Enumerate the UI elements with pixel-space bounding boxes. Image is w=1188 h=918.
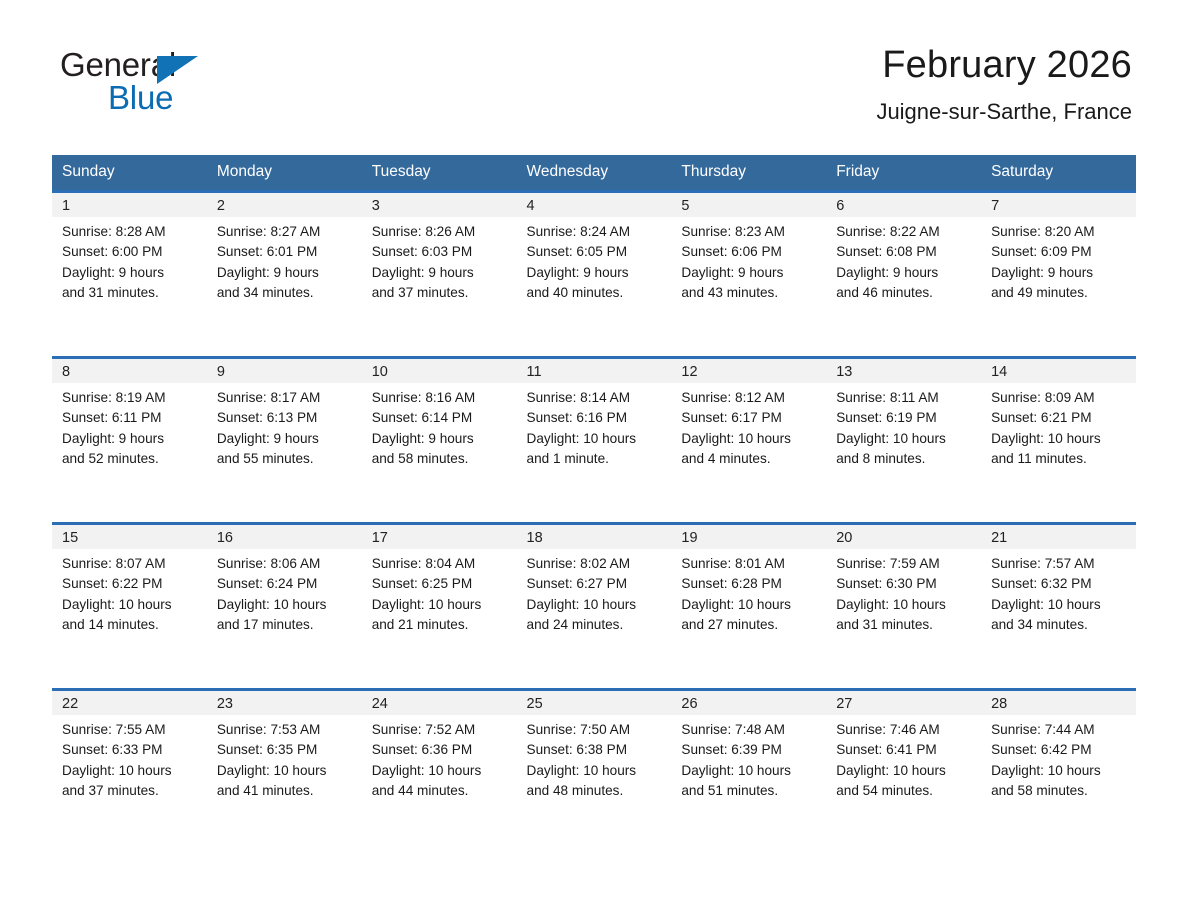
day-number-band: 18: [517, 525, 672, 549]
sunrise-text: Sunrise: 8:09 AM: [991, 388, 1130, 408]
day-number: 24: [372, 696, 388, 712]
day-number: 15: [62, 530, 78, 546]
day-details: Sunrise: 8:06 AM Sunset: 6:24 PM Dayligh…: [207, 549, 362, 635]
daylight-text-line1: Daylight: 10 hours: [681, 761, 820, 781]
day-number: 12: [681, 364, 697, 380]
day-box: 8 Sunrise: 8:19 AM Sunset: 6:11 PM Dayli…: [52, 359, 207, 522]
weekday-header-saturday: Saturday: [981, 155, 1136, 192]
daylight-text-line1: Daylight: 9 hours: [62, 429, 201, 449]
sunrise-text: Sunrise: 8:11 AM: [836, 388, 975, 408]
daylight-text-line1: Daylight: 9 hours: [217, 429, 356, 449]
day-box: 17 Sunrise: 8:04 AM Sunset: 6:25 PM Dayl…: [362, 525, 517, 688]
day-number: 13: [836, 364, 852, 380]
weekday-header-sunday: Sunday: [52, 155, 207, 192]
daylight-text-line2: and 24 minutes.: [527, 615, 666, 635]
day-details: Sunrise: 8:04 AM Sunset: 6:25 PM Dayligh…: [362, 549, 517, 635]
day-box: 1 Sunrise: 8:28 AM Sunset: 6:00 PM Dayli…: [52, 193, 207, 356]
day-box: 20 Sunrise: 7:59 AM Sunset: 6:30 PM Dayl…: [826, 525, 981, 688]
sunset-text: Sunset: 6:11 PM: [62, 408, 201, 428]
sunrise-text: Sunrise: 8:14 AM: [527, 388, 666, 408]
day-number-band: 13: [826, 359, 981, 383]
daylight-text-line1: Daylight: 10 hours: [836, 595, 975, 615]
day-details: Sunrise: 8:07 AM Sunset: 6:22 PM Dayligh…: [52, 549, 207, 635]
day-number: 22: [62, 696, 78, 712]
day-number-band: 4: [517, 193, 672, 217]
day-number-band: 11: [517, 359, 672, 383]
sunrise-sunset-calendar: Sunday Monday Tuesday Wednesday Thursday…: [52, 155, 1136, 854]
day-number: 10: [372, 364, 388, 380]
sunrise-text: Sunrise: 7:53 AM: [217, 720, 356, 740]
day-details: Sunrise: 7:48 AM Sunset: 6:39 PM Dayligh…: [671, 715, 826, 801]
daylight-text-line1: Daylight: 9 hours: [62, 263, 201, 283]
day-cell[interactable]: 18 Sunrise: 8:02 AM Sunset: 6:27 PM Dayl…: [517, 524, 672, 690]
daylight-text-line2: and 52 minutes.: [62, 449, 201, 469]
day-number-band: 26: [671, 691, 826, 715]
day-number-band: 17: [362, 525, 517, 549]
daylight-text-line1: Daylight: 9 hours: [217, 263, 356, 283]
day-box: 18 Sunrise: 8:02 AM Sunset: 6:27 PM Dayl…: [517, 525, 672, 688]
daylight-text-line1: Daylight: 10 hours: [991, 761, 1130, 781]
day-cell[interactable]: 9 Sunrise: 8:17 AM Sunset: 6:13 PM Dayli…: [207, 358, 362, 524]
sunrise-text: Sunrise: 8:17 AM: [217, 388, 356, 408]
page-title: February 2026: [876, 44, 1132, 88]
sunset-text: Sunset: 6:05 PM: [527, 242, 666, 262]
day-number-band: 28: [981, 691, 1136, 715]
day-box: 25 Sunrise: 7:50 AM Sunset: 6:38 PM Dayl…: [517, 691, 672, 854]
daylight-text-line1: Daylight: 10 hours: [991, 429, 1130, 449]
sunset-text: Sunset: 6:03 PM: [372, 242, 511, 262]
day-box: 7 Sunrise: 8:20 AM Sunset: 6:09 PM Dayli…: [981, 193, 1136, 356]
day-number: 21: [991, 530, 1007, 546]
day-details: Sunrise: 8:22 AM Sunset: 6:08 PM Dayligh…: [826, 217, 981, 303]
day-number: 3: [372, 198, 380, 214]
sunset-text: Sunset: 6:17 PM: [681, 408, 820, 428]
day-number-band: 3: [362, 193, 517, 217]
day-number: 4: [527, 198, 535, 214]
daylight-text-line1: Daylight: 10 hours: [527, 595, 666, 615]
sunset-text: Sunset: 6:36 PM: [372, 740, 511, 760]
day-box: 2 Sunrise: 8:27 AM Sunset: 6:01 PM Dayli…: [207, 193, 362, 356]
day-details: Sunrise: 7:46 AM Sunset: 6:41 PM Dayligh…: [826, 715, 981, 801]
day-number-band: 19: [671, 525, 826, 549]
daylight-text-line2: and 58 minutes.: [372, 449, 511, 469]
sunrise-text: Sunrise: 8:22 AM: [836, 222, 975, 242]
daylight-text-line1: Daylight: 10 hours: [991, 595, 1130, 615]
daylight-text-line2: and 55 minutes.: [217, 449, 356, 469]
sunset-text: Sunset: 6:16 PM: [527, 408, 666, 428]
sunrise-text: Sunrise: 8:12 AM: [681, 388, 820, 408]
daylight-text-line2: and 40 minutes.: [527, 283, 666, 303]
calendar-week-row: 1 Sunrise: 8:28 AM Sunset: 6:00 PM Dayli…: [52, 192, 1136, 358]
daylight-text-line2: and 58 minutes.: [991, 781, 1130, 801]
sunrise-text: Sunrise: 7:55 AM: [62, 720, 201, 740]
day-cell[interactable]: 12 Sunrise: 8:12 AM Sunset: 6:17 PM Dayl…: [671, 358, 826, 524]
sunrise-text: Sunrise: 7:52 AM: [372, 720, 511, 740]
day-box: 24 Sunrise: 7:52 AM Sunset: 6:36 PM Dayl…: [362, 691, 517, 854]
day-details: Sunrise: 7:53 AM Sunset: 6:35 PM Dayligh…: [207, 715, 362, 801]
day-details: Sunrise: 8:24 AM Sunset: 6:05 PM Dayligh…: [517, 217, 672, 303]
day-box: 19 Sunrise: 8:01 AM Sunset: 6:28 PM Dayl…: [671, 525, 826, 688]
day-box: 22 Sunrise: 7:55 AM Sunset: 6:33 PM Dayl…: [52, 691, 207, 854]
sunset-text: Sunset: 6:24 PM: [217, 574, 356, 594]
daylight-text-line2: and 34 minutes.: [217, 283, 356, 303]
day-number: 8: [62, 364, 70, 380]
day-cell[interactable]: 25 Sunrise: 7:50 AM Sunset: 6:38 PM Dayl…: [517, 690, 672, 855]
day-details: Sunrise: 7:59 AM Sunset: 6:30 PM Dayligh…: [826, 549, 981, 635]
daylight-text-line2: and 44 minutes.: [372, 781, 511, 801]
calendar-week-row: 22 Sunrise: 7:55 AM Sunset: 6:33 PM Dayl…: [52, 690, 1136, 855]
day-cell[interactable]: 17 Sunrise: 8:04 AM Sunset: 6:25 PM Dayl…: [362, 524, 517, 690]
daylight-text-line1: Daylight: 10 hours: [681, 595, 820, 615]
daylight-text-line2: and 37 minutes.: [372, 283, 511, 303]
day-number: 28: [991, 696, 1007, 712]
daylight-text-line1: Daylight: 10 hours: [681, 429, 820, 449]
day-number: 16: [217, 530, 233, 546]
day-details: Sunrise: 8:12 AM Sunset: 6:17 PM Dayligh…: [671, 383, 826, 469]
day-cell[interactable]: 7 Sunrise: 8:20 AM Sunset: 6:09 PM Dayli…: [981, 192, 1136, 358]
daylight-text-line2: and 54 minutes.: [836, 781, 975, 801]
day-number-band: 16: [207, 525, 362, 549]
calendar-week-row: 8 Sunrise: 8:19 AM Sunset: 6:11 PM Dayli…: [52, 358, 1136, 524]
sunrise-text: Sunrise: 7:48 AM: [681, 720, 820, 740]
day-details: Sunrise: 7:44 AM Sunset: 6:42 PM Dayligh…: [981, 715, 1136, 801]
daylight-text-line1: Daylight: 10 hours: [527, 429, 666, 449]
day-number: 7: [991, 198, 999, 214]
daylight-text-line2: and 27 minutes.: [681, 615, 820, 635]
day-number: 18: [527, 530, 543, 546]
calendar-header: Sunday Monday Tuesday Wednesday Thursday…: [52, 155, 1136, 192]
daylight-text-line2: and 48 minutes.: [527, 781, 666, 801]
day-number: 9: [217, 364, 225, 380]
weekday-header-friday: Friday: [826, 155, 981, 192]
day-cell[interactable]: 27 Sunrise: 7:46 AM Sunset: 6:41 PM Dayl…: [826, 690, 981, 855]
day-details: Sunrise: 8:09 AM Sunset: 6:21 PM Dayligh…: [981, 383, 1136, 469]
day-cell[interactable]: 28 Sunrise: 7:44 AM Sunset: 6:42 PM Dayl…: [981, 690, 1136, 855]
day-box: 23 Sunrise: 7:53 AM Sunset: 6:35 PM Dayl…: [207, 691, 362, 854]
sunrise-text: Sunrise: 8:19 AM: [62, 388, 201, 408]
daylight-text-line1: Daylight: 9 hours: [372, 429, 511, 449]
day-number: 26: [681, 696, 697, 712]
sunset-text: Sunset: 6:38 PM: [527, 740, 666, 760]
daylight-text-line2: and 46 minutes.: [836, 283, 975, 303]
day-number-band: 25: [517, 691, 672, 715]
page-subtitle: Juigne-sur-Sarthe, France: [876, 98, 1132, 127]
day-box: 21 Sunrise: 7:57 AM Sunset: 6:32 PM Dayl…: [981, 525, 1136, 688]
day-details: Sunrise: 8:17 AM Sunset: 6:13 PM Dayligh…: [207, 383, 362, 469]
day-number-band: 1: [52, 193, 207, 217]
day-cell[interactable]: 14 Sunrise: 8:09 AM Sunset: 6:21 PM Dayl…: [981, 358, 1136, 524]
day-number-band: 9: [207, 359, 362, 383]
day-number: 17: [372, 530, 388, 546]
day-number: 1: [62, 198, 70, 214]
day-details: Sunrise: 8:19 AM Sunset: 6:11 PM Dayligh…: [52, 383, 207, 469]
sunrise-text: Sunrise: 8:27 AM: [217, 222, 356, 242]
day-box: 5 Sunrise: 8:23 AM Sunset: 6:06 PM Dayli…: [671, 193, 826, 356]
page-masthead: General Blue February 2026 Juigne-sur-Sa…: [52, 0, 1136, 155]
daylight-text-line1: Daylight: 9 hours: [991, 263, 1130, 283]
day-details: Sunrise: 8:27 AM Sunset: 6:01 PM Dayligh…: [207, 217, 362, 303]
daylight-text-line2: and 41 minutes.: [217, 781, 356, 801]
weekday-header-row: Sunday Monday Tuesday Wednesday Thursday…: [52, 155, 1136, 192]
day-details: Sunrise: 7:55 AM Sunset: 6:33 PM Dayligh…: [52, 715, 207, 801]
daylight-text-line1: Daylight: 10 hours: [217, 595, 356, 615]
day-cell[interactable]: 13 Sunrise: 8:11 AM Sunset: 6:19 PM Dayl…: [826, 358, 981, 524]
sunset-text: Sunset: 6:00 PM: [62, 242, 201, 262]
day-cell[interactable]: 19 Sunrise: 8:01 AM Sunset: 6:28 PM Dayl…: [671, 524, 826, 690]
day-number-band: 14: [981, 359, 1136, 383]
sunset-text: Sunset: 6:39 PM: [681, 740, 820, 760]
day-cell[interactable]: 24 Sunrise: 7:52 AM Sunset: 6:36 PM Dayl…: [362, 690, 517, 855]
sunset-text: Sunset: 6:27 PM: [527, 574, 666, 594]
sunset-text: Sunset: 6:33 PM: [62, 740, 201, 760]
daylight-text-line2: and 51 minutes.: [681, 781, 820, 801]
day-details: Sunrise: 8:14 AM Sunset: 6:16 PM Dayligh…: [517, 383, 672, 469]
day-number-band: 20: [826, 525, 981, 549]
day-number-band: 23: [207, 691, 362, 715]
day-details: Sunrise: 8:16 AM Sunset: 6:14 PM Dayligh…: [362, 383, 517, 469]
daylight-text-line1: Daylight: 10 hours: [836, 761, 975, 781]
day-cell[interactable]: 2 Sunrise: 8:27 AM Sunset: 6:01 PM Dayli…: [207, 192, 362, 358]
day-box: 9 Sunrise: 8:17 AM Sunset: 6:13 PM Dayli…: [207, 359, 362, 522]
day-number-band: 7: [981, 193, 1136, 217]
daylight-text-line1: Daylight: 10 hours: [836, 429, 975, 449]
sunrise-text: Sunrise: 8:04 AM: [372, 554, 511, 574]
day-number-band: 12: [671, 359, 826, 383]
generalblue-logo[interactable]: General Blue: [60, 48, 360, 120]
sunrise-text: Sunrise: 8:16 AM: [372, 388, 511, 408]
day-cell[interactable]: 5 Sunrise: 8:23 AM Sunset: 6:06 PM Dayli…: [671, 192, 826, 358]
daylight-text-line1: Daylight: 9 hours: [836, 263, 975, 283]
sunrise-text: Sunrise: 8:26 AM: [372, 222, 511, 242]
daylight-text-line1: Daylight: 10 hours: [372, 595, 511, 615]
daylight-text-line2: and 14 minutes.: [62, 615, 201, 635]
day-box: 3 Sunrise: 8:26 AM Sunset: 6:03 PM Dayli…: [362, 193, 517, 356]
day-details: Sunrise: 8:01 AM Sunset: 6:28 PM Dayligh…: [671, 549, 826, 635]
sunrise-text: Sunrise: 8:01 AM: [681, 554, 820, 574]
day-box: 16 Sunrise: 8:06 AM Sunset: 6:24 PM Dayl…: [207, 525, 362, 688]
daylight-text-line2: and 37 minutes.: [62, 781, 201, 801]
day-number-band: 6: [826, 193, 981, 217]
day-details: Sunrise: 8:28 AM Sunset: 6:00 PM Dayligh…: [52, 217, 207, 303]
sunset-text: Sunset: 6:13 PM: [217, 408, 356, 428]
daylight-text-line1: Daylight: 10 hours: [372, 761, 511, 781]
day-number-band: 2: [207, 193, 362, 217]
day-details: Sunrise: 8:23 AM Sunset: 6:06 PM Dayligh…: [671, 217, 826, 303]
day-box: 14 Sunrise: 8:09 AM Sunset: 6:21 PM Dayl…: [981, 359, 1136, 522]
daylight-text-line1: Daylight: 10 hours: [62, 595, 201, 615]
day-number: 19: [681, 530, 697, 546]
daylight-text-line1: Daylight: 9 hours: [372, 263, 511, 283]
sunrise-text: Sunrise: 7:46 AM: [836, 720, 975, 740]
daylight-text-line1: Daylight: 10 hours: [527, 761, 666, 781]
day-details: Sunrise: 8:26 AM Sunset: 6:03 PM Dayligh…: [362, 217, 517, 303]
day-number-band: 24: [362, 691, 517, 715]
day-details: Sunrise: 8:20 AM Sunset: 6:09 PM Dayligh…: [981, 217, 1136, 303]
weekday-header-tuesday: Tuesday: [362, 155, 517, 192]
day-cell[interactable]: 3 Sunrise: 8:26 AM Sunset: 6:03 PM Dayli…: [362, 192, 517, 358]
day-number-band: 15: [52, 525, 207, 549]
day-number: 5: [681, 198, 689, 214]
daylight-text-line2: and 1 minute.: [527, 449, 666, 469]
daylight-text-line1: Daylight: 10 hours: [217, 761, 356, 781]
title-block: February 2026 Juigne-sur-Sarthe, France: [876, 44, 1132, 126]
day-cell[interactable]: 6 Sunrise: 8:22 AM Sunset: 6:08 PM Dayli…: [826, 192, 981, 358]
day-details: Sunrise: 7:57 AM Sunset: 6:32 PM Dayligh…: [981, 549, 1136, 635]
daylight-text-line1: Daylight: 9 hours: [527, 263, 666, 283]
day-cell[interactable]: 21 Sunrise: 7:57 AM Sunset: 6:32 PM Dayl…: [981, 524, 1136, 690]
sunset-text: Sunset: 6:19 PM: [836, 408, 975, 428]
sunrise-text: Sunrise: 8:24 AM: [527, 222, 666, 242]
day-cell[interactable]: 11 Sunrise: 8:14 AM Sunset: 6:16 PM Dayl…: [517, 358, 672, 524]
logo-text-blue: Blue: [108, 81, 173, 114]
weekday-header-monday: Monday: [207, 155, 362, 192]
sunset-text: Sunset: 6:25 PM: [372, 574, 511, 594]
daylight-text-line1: Daylight: 10 hours: [62, 761, 201, 781]
day-number-band: 27: [826, 691, 981, 715]
sunset-text: Sunset: 6:06 PM: [681, 242, 820, 262]
sunset-text: Sunset: 6:42 PM: [991, 740, 1130, 760]
day-box: 13 Sunrise: 8:11 AM Sunset: 6:19 PM Dayl…: [826, 359, 981, 522]
sunrise-text: Sunrise: 8:20 AM: [991, 222, 1130, 242]
weekday-header-thursday: Thursday: [671, 155, 826, 192]
daylight-text-line2: and 49 minutes.: [991, 283, 1130, 303]
daylight-text-line2: and 21 minutes.: [372, 615, 511, 635]
day-details: Sunrise: 7:50 AM Sunset: 6:38 PM Dayligh…: [517, 715, 672, 801]
day-cell[interactable]: 20 Sunrise: 7:59 AM Sunset: 6:30 PM Dayl…: [826, 524, 981, 690]
daylight-text-line2: and 4 minutes.: [681, 449, 820, 469]
sunrise-text: Sunrise: 8:28 AM: [62, 222, 201, 242]
sunset-text: Sunset: 6:41 PM: [836, 740, 975, 760]
day-number: 14: [991, 364, 1007, 380]
day-box: 26 Sunrise: 7:48 AM Sunset: 6:39 PM Dayl…: [671, 691, 826, 854]
sunrise-text: Sunrise: 7:50 AM: [527, 720, 666, 740]
day-box: 27 Sunrise: 7:46 AM Sunset: 6:41 PM Dayl…: [826, 691, 981, 854]
day-number-band: 22: [52, 691, 207, 715]
sunset-text: Sunset: 6:14 PM: [372, 408, 511, 428]
sunset-text: Sunset: 6:32 PM: [991, 574, 1130, 594]
day-cell[interactable]: 16 Sunrise: 8:06 AM Sunset: 6:24 PM Dayl…: [207, 524, 362, 690]
day-number: 27: [836, 696, 852, 712]
day-box: 10 Sunrise: 8:16 AM Sunset: 6:14 PM Dayl…: [362, 359, 517, 522]
sunrise-text: Sunrise: 8:23 AM: [681, 222, 820, 242]
sunset-text: Sunset: 6:35 PM: [217, 740, 356, 760]
day-cell[interactable]: 23 Sunrise: 7:53 AM Sunset: 6:35 PM Dayl…: [207, 690, 362, 855]
day-details: Sunrise: 8:11 AM Sunset: 6:19 PM Dayligh…: [826, 383, 981, 469]
day-cell[interactable]: 4 Sunrise: 8:24 AM Sunset: 6:05 PM Dayli…: [517, 192, 672, 358]
calendar-page: General Blue February 2026 Juigne-sur-Sa…: [0, 0, 1188, 918]
day-number: 6: [836, 198, 844, 214]
calendar-body: 1 Sunrise: 8:28 AM Sunset: 6:00 PM Dayli…: [52, 192, 1136, 855]
sunset-text: Sunset: 6:21 PM: [991, 408, 1130, 428]
sunset-text: Sunset: 6:28 PM: [681, 574, 820, 594]
sunrise-text: Sunrise: 8:02 AM: [527, 554, 666, 574]
day-cell[interactable]: 26 Sunrise: 7:48 AM Sunset: 6:39 PM Dayl…: [671, 690, 826, 855]
day-box: 6 Sunrise: 8:22 AM Sunset: 6:08 PM Dayli…: [826, 193, 981, 356]
day-number: 11: [527, 364, 542, 380]
day-cell[interactable]: 1 Sunrise: 8:28 AM Sunset: 6:00 PM Dayli…: [52, 192, 207, 358]
day-box: 15 Sunrise: 8:07 AM Sunset: 6:22 PM Dayl…: [52, 525, 207, 688]
sunrise-text: Sunrise: 7:59 AM: [836, 554, 975, 574]
sunrise-text: Sunrise: 8:07 AM: [62, 554, 201, 574]
day-number-band: 10: [362, 359, 517, 383]
day-number: 2: [217, 198, 225, 214]
sunrise-text: Sunrise: 7:57 AM: [991, 554, 1130, 574]
sunrise-text: Sunrise: 8:06 AM: [217, 554, 356, 574]
calendar-week-row: 15 Sunrise: 8:07 AM Sunset: 6:22 PM Dayl…: [52, 524, 1136, 690]
day-cell[interactable]: 10 Sunrise: 8:16 AM Sunset: 6:14 PM Dayl…: [362, 358, 517, 524]
day-number: 23: [217, 696, 233, 712]
day-details: Sunrise: 8:02 AM Sunset: 6:27 PM Dayligh…: [517, 549, 672, 635]
day-cell[interactable]: 15 Sunrise: 8:07 AM Sunset: 6:22 PM Dayl…: [52, 524, 207, 690]
daylight-text-line1: Daylight: 9 hours: [681, 263, 820, 283]
daylight-text-line2: and 31 minutes.: [62, 283, 201, 303]
daylight-text-line2: and 11 minutes.: [991, 449, 1130, 469]
daylight-text-line2: and 31 minutes.: [836, 615, 975, 635]
day-details: Sunrise: 7:52 AM Sunset: 6:36 PM Dayligh…: [362, 715, 517, 801]
day-box: 11 Sunrise: 8:14 AM Sunset: 6:16 PM Dayl…: [517, 359, 672, 522]
day-box: 28 Sunrise: 7:44 AM Sunset: 6:42 PM Dayl…: [981, 691, 1136, 854]
sunrise-text: Sunrise: 7:44 AM: [991, 720, 1130, 740]
daylight-text-line2: and 34 minutes.: [991, 615, 1130, 635]
day-cell[interactable]: 22 Sunrise: 7:55 AM Sunset: 6:33 PM Dayl…: [52, 690, 207, 855]
daylight-text-line2: and 17 minutes.: [217, 615, 356, 635]
daylight-text-line2: and 43 minutes.: [681, 283, 820, 303]
day-cell[interactable]: 8 Sunrise: 8:19 AM Sunset: 6:11 PM Dayli…: [52, 358, 207, 524]
sunset-text: Sunset: 6:08 PM: [836, 242, 975, 262]
sunset-text: Sunset: 6:09 PM: [991, 242, 1130, 262]
day-box: 12 Sunrise: 8:12 AM Sunset: 6:17 PM Dayl…: [671, 359, 826, 522]
day-number-band: 5: [671, 193, 826, 217]
day-number-band: 8: [52, 359, 207, 383]
sunset-text: Sunset: 6:30 PM: [836, 574, 975, 594]
day-number: 20: [836, 530, 852, 546]
day-number: 25: [527, 696, 543, 712]
daylight-text-line2: and 8 minutes.: [836, 449, 975, 469]
day-number-band: 21: [981, 525, 1136, 549]
sunset-text: Sunset: 6:22 PM: [62, 574, 201, 594]
day-box: 4 Sunrise: 8:24 AM Sunset: 6:05 PM Dayli…: [517, 193, 672, 356]
weekday-header-wednesday: Wednesday: [517, 155, 672, 192]
sunset-text: Sunset: 6:01 PM: [217, 242, 356, 262]
